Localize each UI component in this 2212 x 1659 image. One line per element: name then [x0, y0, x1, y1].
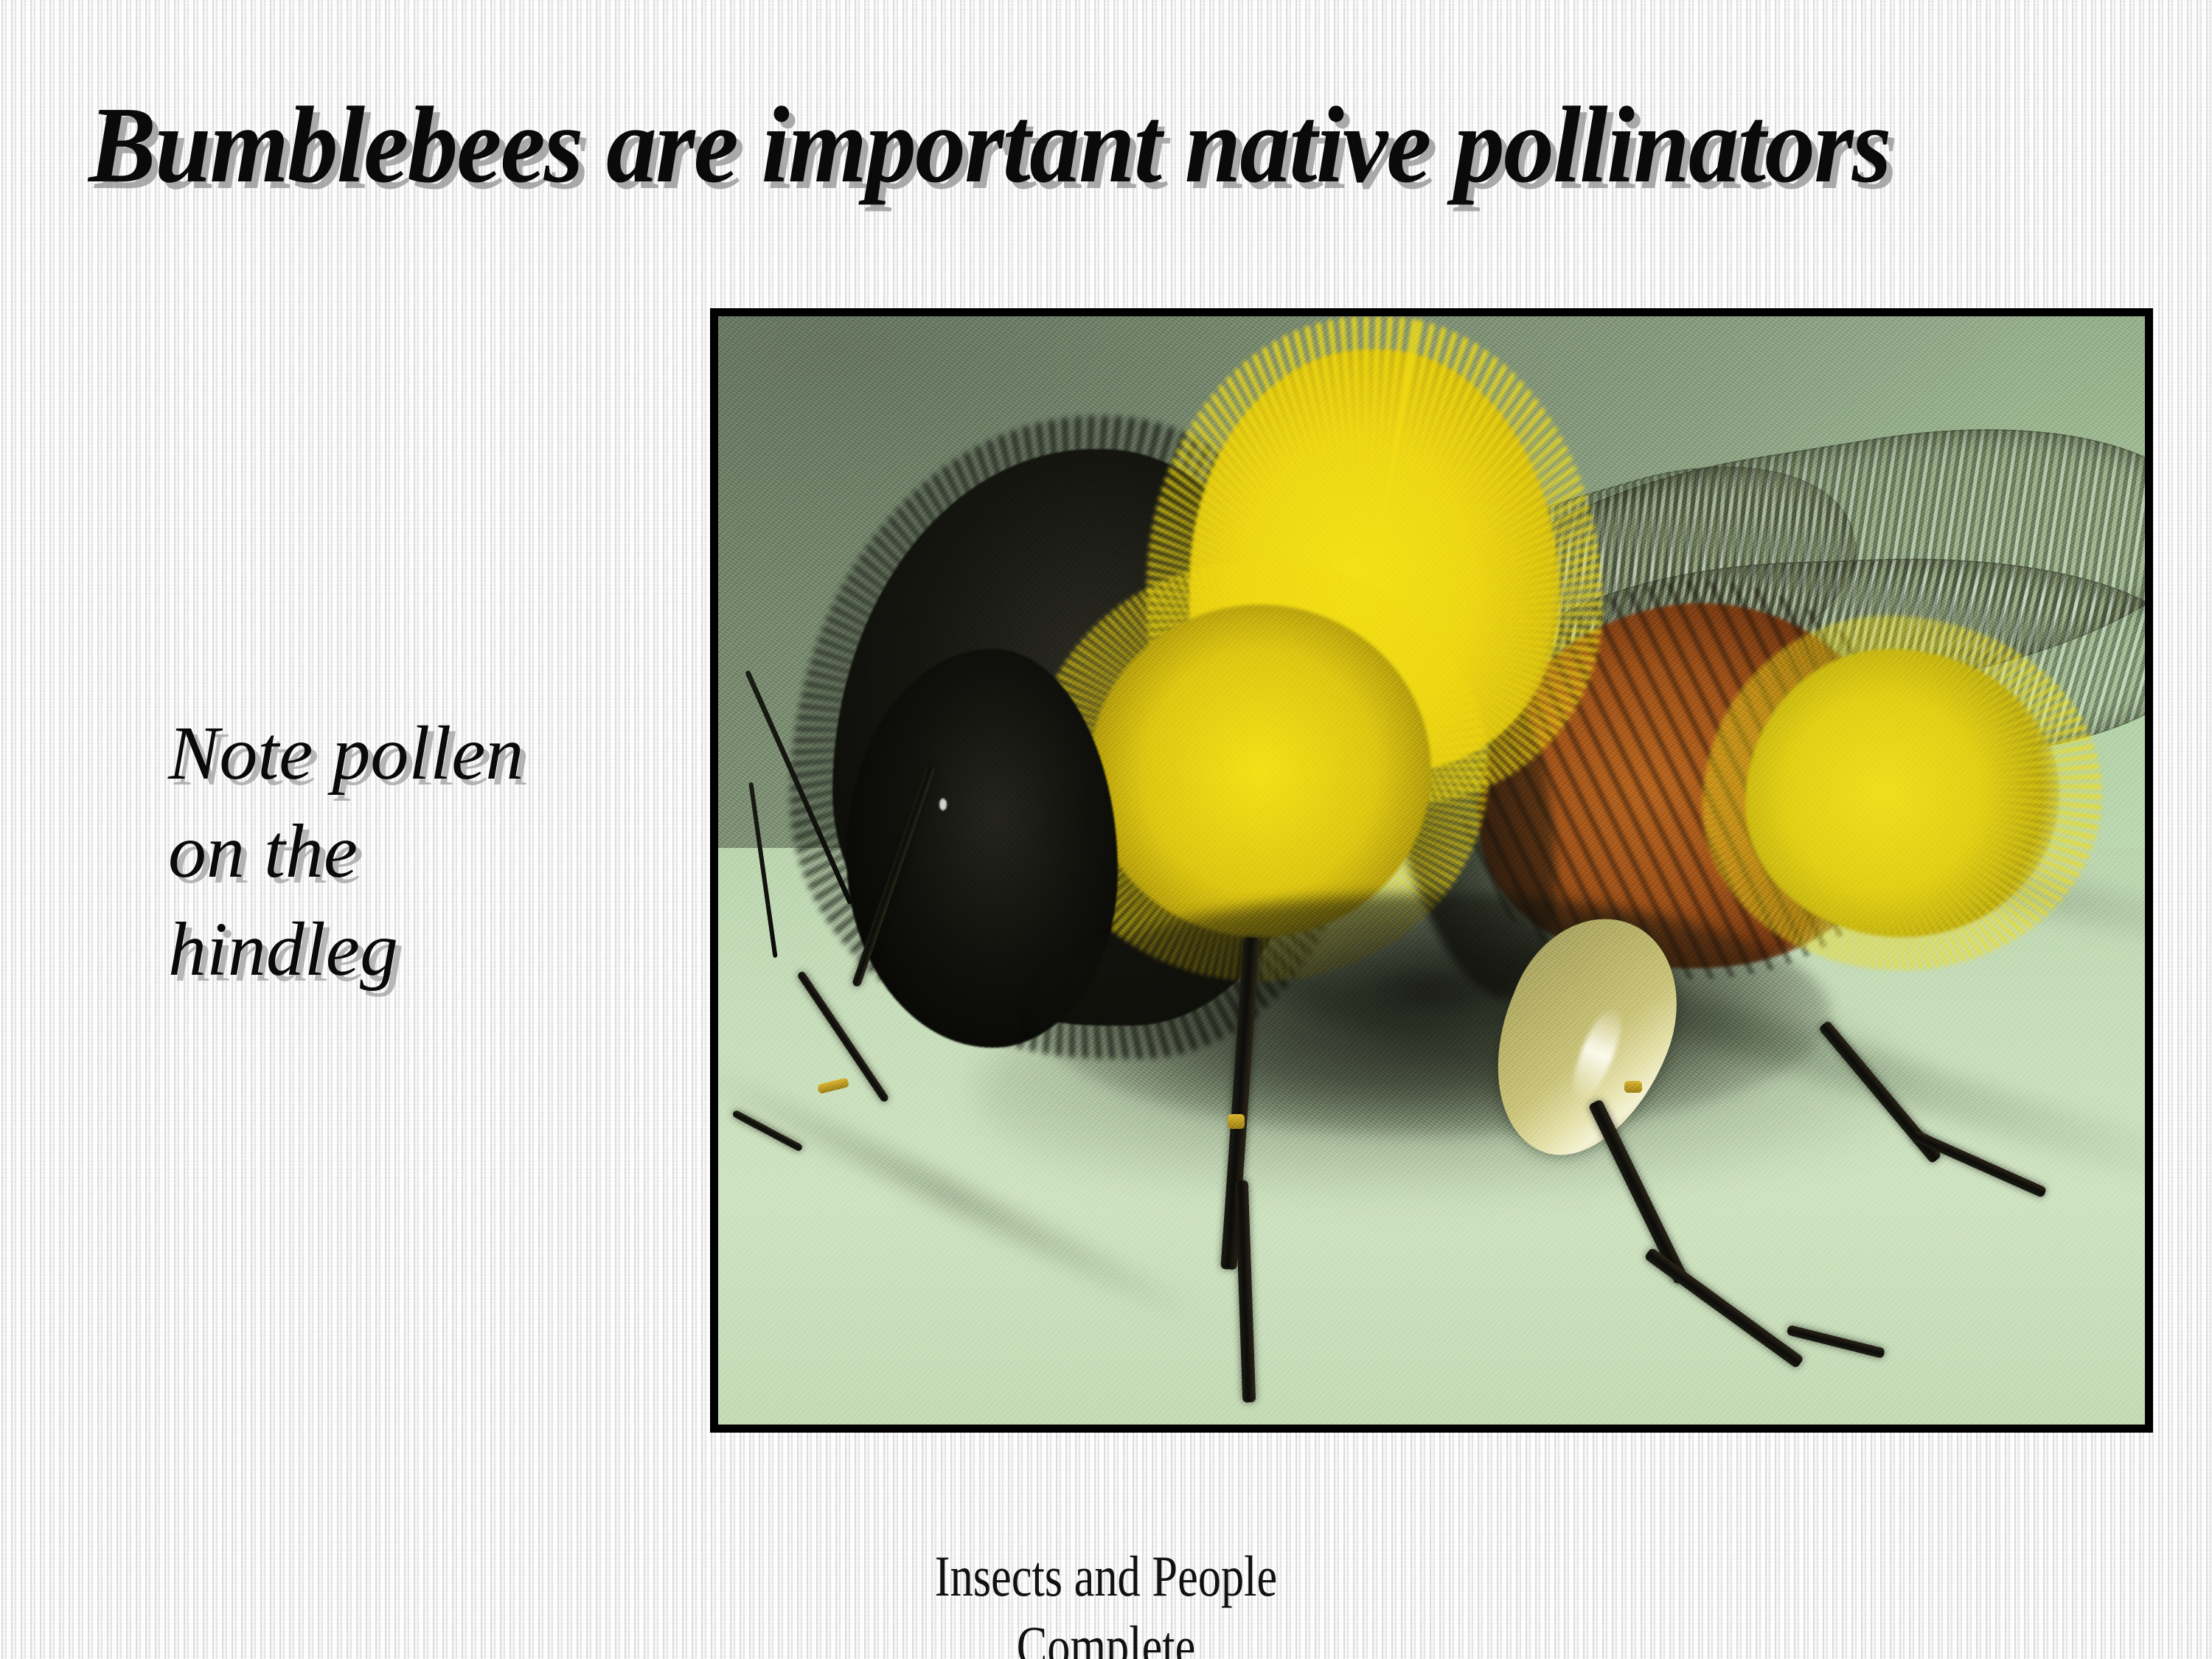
photo-film-grain [718, 316, 2145, 1425]
bumblebee-photo-frame [710, 308, 2153, 1433]
footer-line-1: Insects and People [221, 1541, 1991, 1611]
caption-line-3: hindleg [168, 900, 625, 998]
slide-canvas: Bumblebees are important native pollinat… [0, 0, 2212, 1659]
page-title: Bumblebees are important native pollinat… [88, 88, 2008, 203]
bumblebee-photo [718, 316, 2145, 1425]
footer-block: Insects and People Complete [0, 1541, 2212, 1659]
caption-line-2: on the [168, 802, 625, 900]
footer-line-2: Complete [221, 1611, 1991, 1659]
caption-block: Note pollen on the hindleg [168, 704, 625, 998]
caption-line-1: Note pollen [168, 704, 625, 802]
